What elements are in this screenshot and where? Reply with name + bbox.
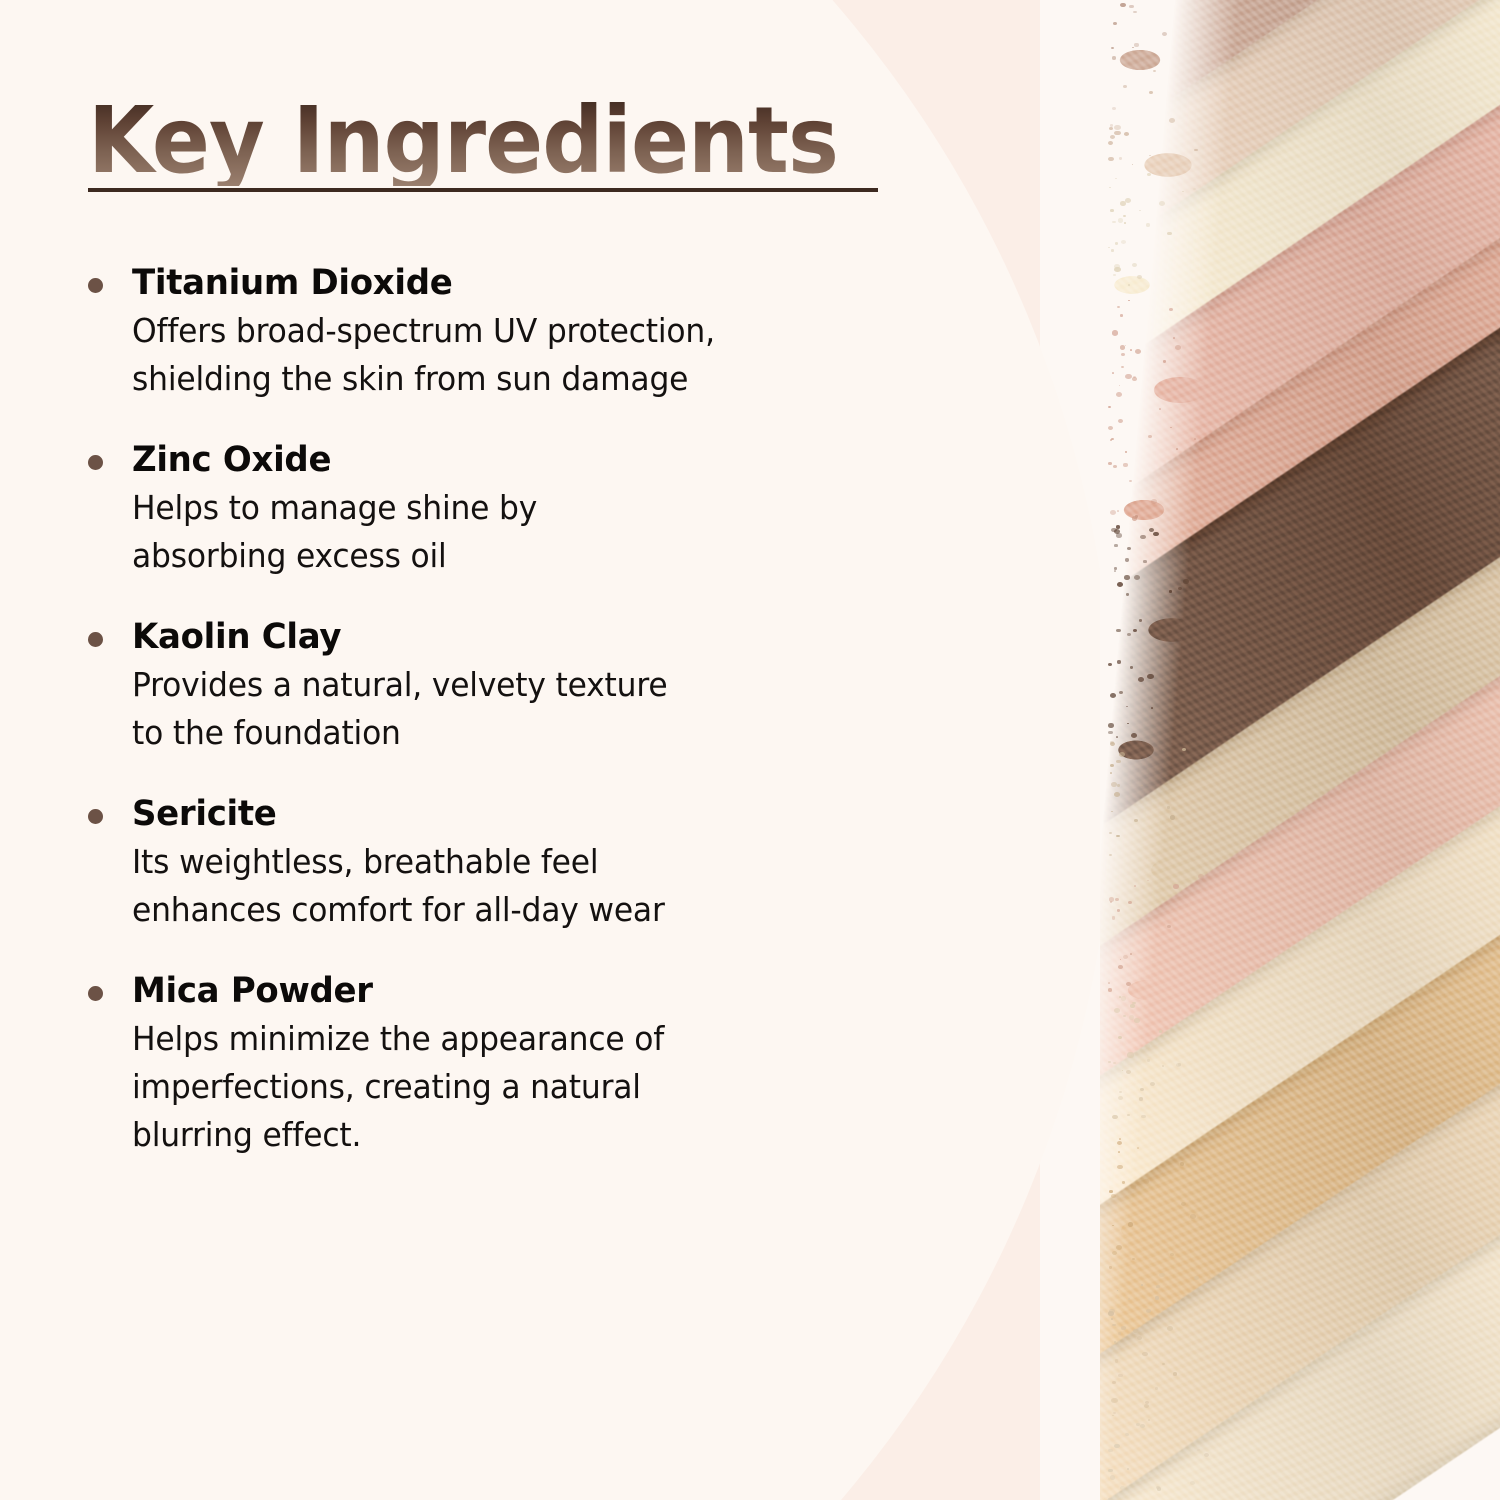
powder-speck [1114, 544, 1117, 547]
powder-speck [1153, 70, 1156, 72]
powder-speck [1109, 1266, 1112, 1269]
powder-speck [1118, 419, 1123, 423]
powder-speck [1111, 782, 1117, 787]
powder-speck [1110, 510, 1116, 515]
powder-speck [1134, 819, 1138, 822]
powder-speck [1121, 1326, 1126, 1330]
powder-speck [1112, 372, 1114, 374]
ingredient-description: Helps to manage shine by absorbing exces… [132, 484, 974, 580]
powder-speck [1141, 1284, 1144, 1286]
powder-speck [1115, 1359, 1119, 1362]
powder-speck [1180, 1162, 1184, 1165]
powder-speck [1156, 1285, 1160, 1288]
powder-speck [1170, 815, 1175, 819]
powder-speck [1151, 499, 1157, 504]
list-item: Zinc Oxide Helps to manage shine by abso… [88, 439, 1018, 580]
ingredient-description: Its weightless, breathable feel enhances… [132, 838, 974, 934]
powder-speck [1116, 1245, 1122, 1250]
powder-speck [1111, 1194, 1116, 1198]
ingredient-name: Sericite [132, 793, 991, 836]
powder-speck [1117, 660, 1121, 663]
powder-speck [1117, 510, 1119, 512]
bullet-dot-icon [88, 632, 103, 647]
powder-speck [1124, 575, 1129, 579]
powder-speck [1116, 629, 1121, 633]
ingredient-description: Offers broad-spectrum UV protection, shi… [132, 307, 974, 403]
powder-speck [1127, 633, 1131, 636]
powder-speck [1128, 1298, 1130, 1299]
powder-speck [1148, 1419, 1150, 1421]
bullet-dot-icon [88, 455, 103, 470]
powder-speck [1170, 427, 1172, 429]
powder-speck [1111, 438, 1114, 440]
powder-speck [1109, 1309, 1115, 1314]
powder-speck [1112, 330, 1118, 335]
powder-speck [1131, 1185, 1135, 1189]
powder-speck [1125, 451, 1127, 452]
powder-speck [1110, 209, 1114, 212]
powder-speck [1150, 1082, 1155, 1086]
powder-speck [1176, 448, 1178, 450]
powder-speck [1110, 772, 1112, 774]
powder-speck [1127, 547, 1131, 550]
powder-speck [1108, 1469, 1113, 1473]
powder-speck [1167, 1326, 1173, 1331]
powder-speck [1110, 693, 1116, 698]
powder-speck [1133, 1329, 1138, 1333]
ingredient-name: Titanium Dioxide [132, 262, 991, 305]
powder-speck [1112, 1115, 1117, 1119]
powder-speck [1108, 1449, 1112, 1452]
powder-speck [1126, 593, 1129, 596]
powder-speck [1111, 1398, 1117, 1403]
powder-speck [1129, 5, 1133, 9]
powder-speck [1190, 1214, 1196, 1219]
powder-speck [1169, 118, 1175, 123]
powder-speck [1204, 1453, 1209, 1457]
powder-speck [1125, 374, 1131, 379]
powder-speck [1176, 1063, 1181, 1067]
powder-speck [1128, 901, 1132, 904]
powder-speck [1155, 1296, 1159, 1299]
powder-speck [1114, 567, 1117, 569]
powder-speck [1109, 854, 1112, 856]
powder-speck [1115, 242, 1118, 245]
powder-speck [1133, 629, 1137, 632]
powder-speck [1120, 1486, 1125, 1490]
powder-speck [1125, 558, 1129, 561]
powder-speck [1135, 515, 1138, 518]
powder-speck [1143, 560, 1146, 563]
powder-speck [1157, 1487, 1161, 1491]
ingredient-description: Provides a natural, velvety texture to t… [132, 661, 974, 757]
bullet-dot-icon [88, 278, 103, 293]
powder-speck [1120, 3, 1126, 8]
powder-speck [1117, 306, 1120, 308]
powder-speck [1113, 274, 1115, 276]
infographic-canvas: Key Ingredients Titanium Dioxide Offers … [0, 0, 1500, 1500]
powder-speck [1109, 897, 1115, 901]
powder-speck [1155, 1387, 1159, 1390]
ingredient-name: Mica Powder [132, 970, 991, 1013]
powder-speck [1132, 377, 1137, 381]
powder-speck [1112, 221, 1115, 224]
powder-speck [1182, 748, 1186, 751]
powder-speck [1162, 1363, 1165, 1365]
bullet-dot-icon [88, 809, 103, 824]
powder-speck [1115, 898, 1119, 901]
powder-speck [1117, 1141, 1122, 1145]
powder-speck [1134, 885, 1136, 887]
powder-speck [1142, 1352, 1147, 1356]
title-underline [88, 188, 878, 192]
powder-speck [1119, 752, 1125, 757]
powder-speck [1159, 1030, 1162, 1033]
powder-speck [1162, 1065, 1164, 1067]
powder-speck [1120, 345, 1126, 350]
powder-swatch-image [1100, 0, 1500, 1500]
powder-speck [1140, 1424, 1145, 1428]
powder-speck [1193, 188, 1196, 190]
powder-speck [1123, 215, 1126, 217]
powder-speck [1114, 267, 1120, 272]
powder-speck [1134, 1018, 1140, 1022]
powder-speck [1109, 1190, 1113, 1193]
powder-speck [1116, 533, 1121, 537]
powder-speck [1111, 47, 1114, 49]
powder-speck [1113, 1412, 1116, 1414]
powder-speck [1183, 579, 1189, 584]
powder-speck [1110, 1475, 1115, 1479]
powder-speck [1144, 1179, 1149, 1183]
powder-speck [1116, 760, 1120, 764]
powder-speck [1108, 426, 1113, 430]
powder-speck [1114, 1008, 1120, 1013]
powder-speck [1118, 965, 1123, 969]
powder-speck [1127, 1468, 1130, 1470]
powder-speck [1121, 353, 1125, 356]
powder-speck [1108, 157, 1113, 161]
powder-speck [1146, 223, 1150, 226]
page-title: Key Ingredients [88, 96, 851, 186]
powder-speck [1117, 1165, 1123, 1169]
powder-speck [1132, 1258, 1135, 1260]
powder-speck [1123, 463, 1127, 466]
powder-speck [1136, 1423, 1140, 1426]
powder-speck [1114, 131, 1120, 136]
powder-speck [1114, 529, 1120, 534]
powder-speck [1110, 764, 1114, 767]
powder-speck [1119, 691, 1123, 694]
powder-speck [1173, 884, 1179, 889]
powder-speck [1134, 575, 1140, 580]
ingredient-name: Kaolin Clay [132, 616, 991, 659]
powder-speck [1109, 187, 1111, 188]
list-item: Sericite Its weightless, breathable feel… [88, 793, 1018, 934]
powder-speck [1134, 43, 1138, 46]
powder-speck [1112, 1381, 1116, 1384]
powder-speck [1125, 1433, 1129, 1436]
powder-speck [1175, 345, 1181, 350]
powder-speck [1197, 1449, 1200, 1451]
powder-speck [1130, 349, 1132, 351]
powder-speck [1108, 1061, 1110, 1063]
powder-speck [1118, 1332, 1121, 1334]
ingredient-name: Zinc Oxide [132, 439, 991, 482]
powder-speck [1140, 1088, 1144, 1091]
powder-speck [1137, 1147, 1139, 1149]
list-item: Mica Powder Helps minimize the appearanc… [88, 970, 1018, 1159]
powder-speck [1114, 792, 1120, 797]
powder-speck [1112, 56, 1116, 59]
powder-speck [1169, 590, 1172, 592]
powder-speck [1116, 525, 1120, 528]
powder-speck [1108, 462, 1111, 465]
powder-speck [1111, 249, 1114, 251]
powder-speck [1112, 1415, 1114, 1417]
powder-speck [1129, 480, 1132, 482]
powder-speck [1139, 210, 1141, 211]
powder-speck [1108, 723, 1114, 728]
ingredient-description: Helps minimize the appearance of imperfe… [132, 1015, 974, 1160]
ingredients-list: Titanium Dioxide Offers broad-spectrum U… [88, 262, 1018, 1159]
powder-speck [1112, 916, 1116, 919]
powder-speck [1147, 674, 1153, 679]
powder-speck [1127, 1114, 1129, 1116]
powder-speck [1120, 314, 1123, 316]
powder-speck [1129, 1015, 1134, 1019]
powder-speck [1147, 1059, 1150, 1061]
powder-speck [1114, 125, 1120, 130]
page-title-wrapper: Key Ingredients [88, 96, 908, 186]
powder-speck [1112, 107, 1116, 110]
bullet-dot-icon [88, 986, 103, 1001]
powder-speck [1167, 806, 1171, 809]
powder-speck [1127, 1052, 1133, 1057]
powder-speck [1130, 1004, 1134, 1007]
list-item: Titanium Dioxide Offers broad-spectrum U… [88, 262, 1018, 403]
powder-speck [1138, 677, 1144, 682]
list-item: Kaolin Clay Provides a natural, velvety … [88, 616, 1018, 757]
powder-speck [1123, 1015, 1126, 1017]
powder-speck [1198, 874, 1204, 879]
